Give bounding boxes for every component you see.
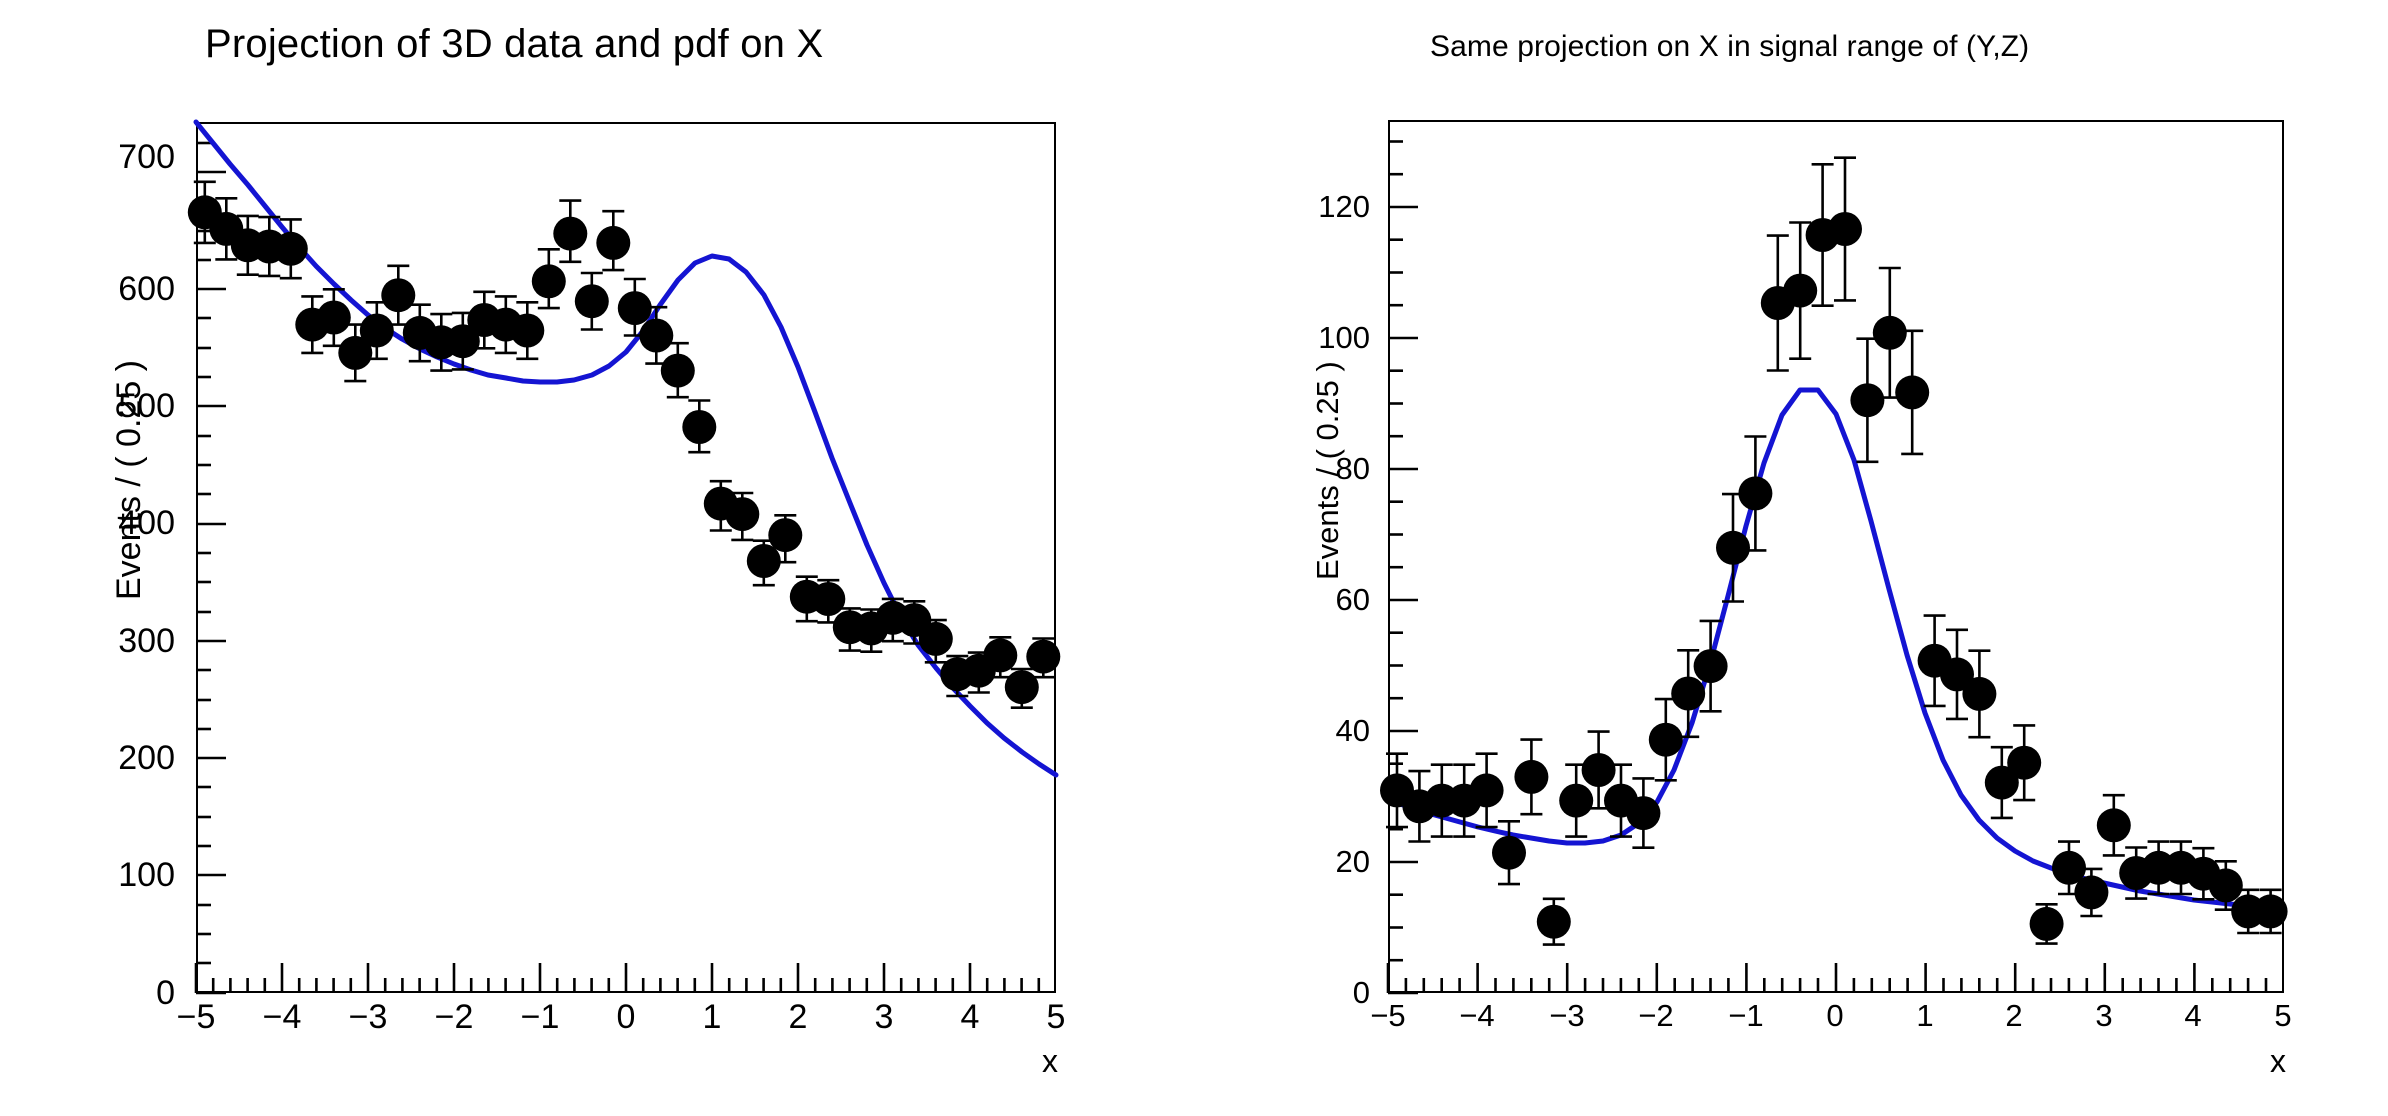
panel-right-y-ticks: [1388, 142, 1418, 994]
panel-right-data-points: [1380, 158, 2288, 945]
panel-right-plot-area: [1180, 0, 2388, 1116]
panel-left-x-ticks: [196, 963, 1039, 993]
figure-canvas: Projection of 3D data and pdf on X Event…: [0, 0, 2388, 1116]
panel-left-y-ticks: [196, 143, 226, 993]
panel-right-x-ticks: [1388, 963, 2266, 993]
panel-right-pdf-curve: [1388, 390, 2284, 908]
panel-left-pdf-curve: [196, 122, 1056, 775]
panel-right: Same projection on X in signal range of …: [1180, 0, 2388, 1116]
panel-left-data-points: [188, 182, 1061, 708]
panel-left: Projection of 3D data and pdf on X Event…: [0, 0, 1180, 1116]
panel-left-plot-area: [0, 0, 1180, 1116]
